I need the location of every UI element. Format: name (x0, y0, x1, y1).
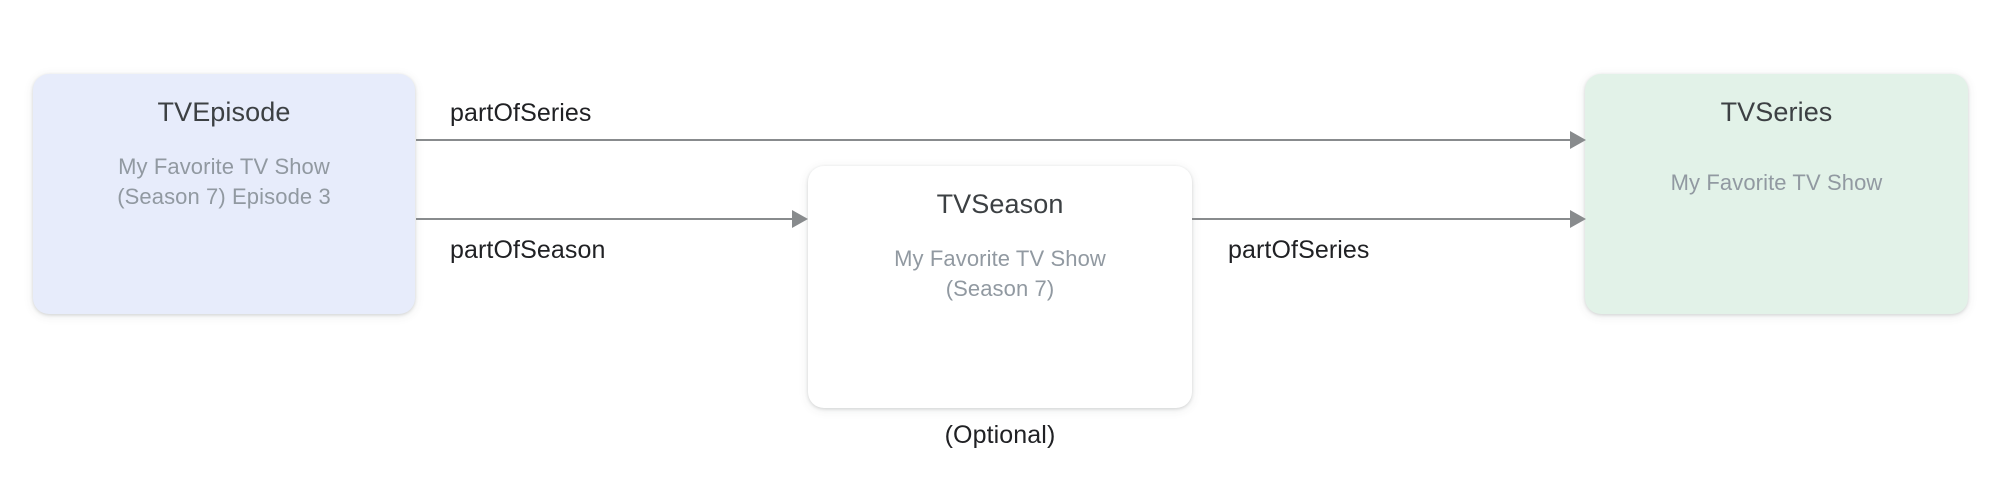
edge-season-to-series-line (1192, 218, 1571, 220)
edge-label-part-of-season: partOfSeason (450, 235, 605, 265)
node-tvseries-subtitle: My Favorite TV Show (1671, 168, 1883, 198)
node-tvepisode-subtitle: My Favorite TV Show (Season 7) Episode 3 (117, 152, 331, 212)
node-tvseason[interactable]: TVSeason My Favorite TV Show (Season 7) (808, 166, 1192, 408)
arrow-head-icon (792, 210, 808, 228)
optional-annotation: (Optional) (808, 420, 1192, 450)
node-tvseries-title: TVSeries (1721, 96, 1833, 128)
node-tvseason-subtitle: My Favorite TV Show (Season 7) (894, 244, 1106, 304)
edge-label-part-of-series-bottom: partOfSeries (1228, 235, 1370, 265)
node-tvepisode-title: TVEpisode (158, 96, 291, 128)
edge-label-part-of-series-top: partOfSeries (450, 98, 592, 128)
arrow-head-icon (1570, 210, 1586, 228)
node-tvepisode[interactable]: TVEpisode My Favorite TV Show (Season 7)… (33, 74, 415, 314)
node-tvseries[interactable]: TVSeries My Favorite TV Show (1585, 74, 1968, 314)
edge-episode-to-series-line (416, 139, 1571, 141)
edge-episode-to-season-line (416, 218, 793, 220)
arrow-head-icon (1570, 131, 1586, 149)
diagram-canvas: TVEpisode My Favorite TV Show (Season 7)… (0, 0, 2000, 495)
node-tvseason-title: TVSeason (937, 188, 1064, 220)
